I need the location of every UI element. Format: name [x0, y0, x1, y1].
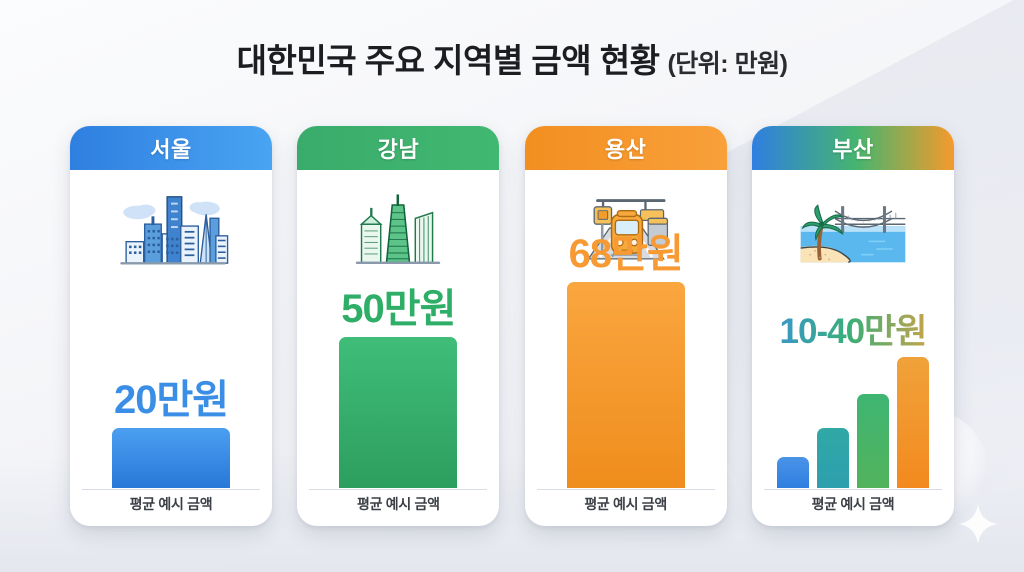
card-caption-강남: 평균 예시 금액	[297, 494, 499, 514]
value-label-용산: 68만원	[525, 234, 727, 274]
bar-chart-부산	[770, 258, 936, 488]
card-header-부산: 부산	[752, 126, 954, 170]
region-card-3[interactable]: 용산	[525, 126, 727, 526]
card-body-부산: 10-40만원평균 예시 금액	[752, 170, 954, 526]
chart-baseline-부산	[764, 489, 942, 491]
card-caption-부산: 평균 예시 금액	[752, 494, 954, 514]
sparkle-icon	[956, 502, 1000, 546]
value-label-강남: 50만원	[297, 289, 499, 329]
card-body-용산: 68만원평균 예시 금액	[525, 170, 727, 526]
bar-부산-2	[817, 428, 849, 488]
region-card-1[interactable]: 서울	[70, 126, 272, 526]
region-card-2[interactable]: 강남	[297, 126, 499, 526]
bar-부산-3	[857, 394, 889, 488]
card-body-서울: 20만원평균 예시 금액	[70, 170, 272, 526]
title-main-text: 대한민국 주요 지역별 금액 현황	[237, 42, 660, 79]
bar-서울	[112, 428, 230, 488]
value-label-부산: 10-40만원	[752, 314, 954, 349]
chart-baseline-용산	[537, 489, 715, 491]
bar-chart-용산	[543, 258, 709, 488]
bar-강남	[339, 337, 457, 488]
card-header-서울: 서울	[70, 126, 272, 170]
card-caption-서울: 평균 예시 금액	[70, 494, 272, 514]
card-header-강남: 강남	[297, 126, 499, 170]
card-body-강남: 50만원평균 예시 금액	[297, 170, 499, 526]
page-title: 대한민국 주요 지역별 금액 현황(단위: 만원)	[0, 34, 1024, 82]
bar-부산-4	[897, 357, 929, 488]
chart-baseline-강남	[309, 489, 487, 491]
title-unit-text: (단위: 만원)	[667, 50, 787, 78]
card-header-용산: 용산	[525, 126, 727, 170]
bar-chart-서울	[88, 258, 254, 488]
bar-용산	[567, 282, 685, 488]
region-card-4[interactable]: 부산	[752, 126, 954, 526]
card-caption-용산: 평균 예시 금액	[525, 494, 727, 514]
region-cards-row: 서울	[70, 126, 954, 526]
bar-부산-1	[777, 457, 809, 488]
value-label-서울: 20만원	[70, 380, 272, 420]
chart-baseline-서울	[82, 489, 260, 491]
